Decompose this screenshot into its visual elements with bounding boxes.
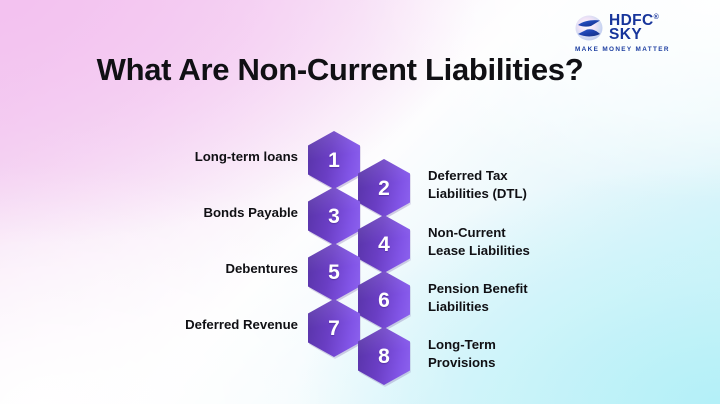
item-label-5: Debentures <box>225 260 298 278</box>
hexagon-number: 8 <box>378 346 390 367</box>
hexagon-number: 5 <box>328 262 340 283</box>
infographic-canvas: HDFC® SKY MAKE MONEY MATTER What Are Non… <box>0 0 720 404</box>
item-label-3: Bonds Payable <box>203 204 298 222</box>
list-item[interactable]: 6 <box>358 271 410 329</box>
item-label-2: Deferred Tax Liabilities (DTL) <box>428 167 527 202</box>
list-item[interactable]: 3 <box>308 187 360 245</box>
hexagon-number: 2 <box>378 178 390 199</box>
hexagon-number: 3 <box>328 206 340 227</box>
list-item[interactable]: 2 <box>358 159 410 217</box>
hexagon-number: 4 <box>378 234 390 255</box>
hexagon-number: 6 <box>378 290 390 311</box>
item-label-1: Long-term loans <box>195 148 298 166</box>
item-label-7: Deferred Revenue <box>185 316 298 334</box>
hexagon-number: 1 <box>328 150 340 171</box>
honeycomb-list: 1 Long-term loans 2 Deferred Tax Liabili… <box>0 0 720 404</box>
list-item[interactable]: 4 <box>358 215 410 273</box>
list-item[interactable]: 5 <box>308 243 360 301</box>
item-label-4: Non-Current Lease Liabilities <box>428 224 530 259</box>
hexagon-number: 7 <box>328 318 340 339</box>
list-item[interactable]: 7 <box>308 299 360 357</box>
item-label-6: Pension Benefit Liabilities <box>428 280 528 315</box>
item-label-8: Long-Term Provisions <box>428 336 496 371</box>
list-item[interactable]: 1 <box>308 131 360 189</box>
list-item[interactable]: 8 <box>358 327 410 385</box>
